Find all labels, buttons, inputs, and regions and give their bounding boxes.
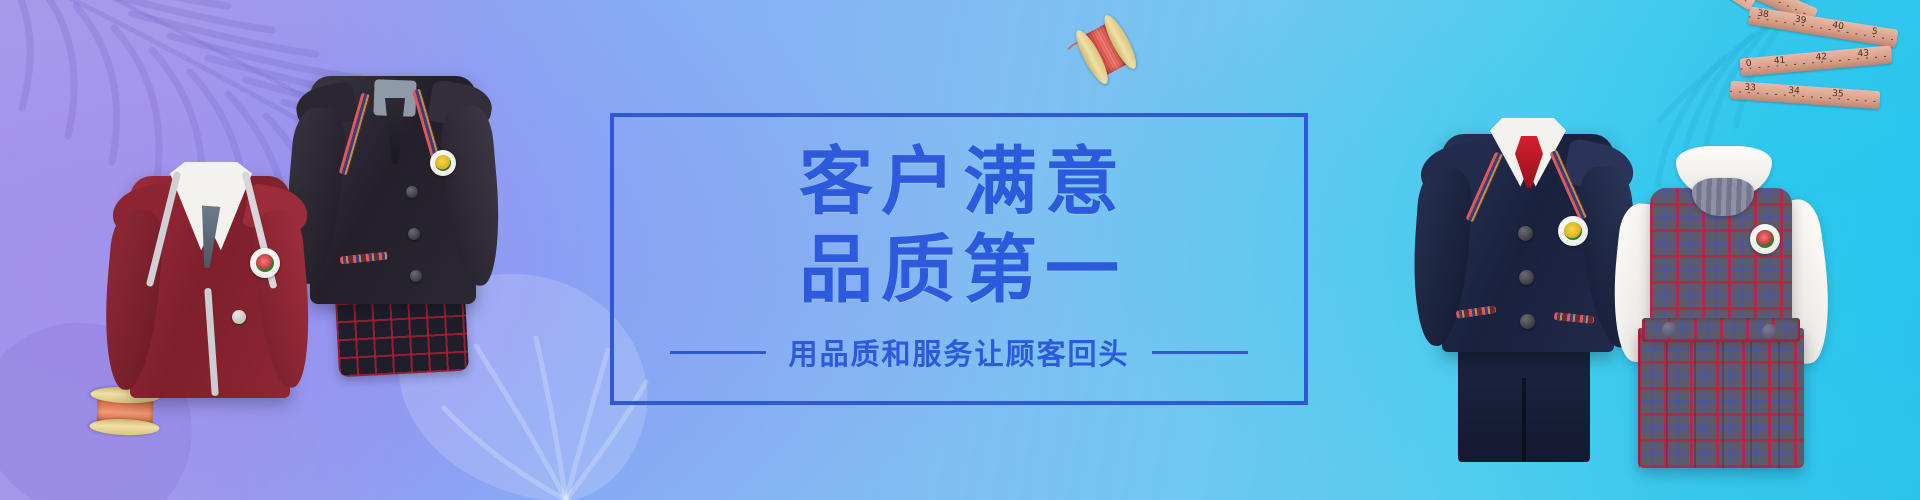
waist-button-left <box>1662 322 1677 337</box>
emblem-inner <box>1756 230 1775 249</box>
subtitle-rule-right <box>1152 351 1248 354</box>
school-emblem-badge <box>1558 216 1588 246</box>
emblem-inner <box>435 155 451 171</box>
school-emblem-badge <box>1750 224 1780 254</box>
navy-button <box>1518 226 1533 241</box>
waist-button-right <box>1762 324 1777 339</box>
blazer-button <box>410 270 422 282</box>
product-maroon-blazer <box>108 148 308 398</box>
headline-line-1: 客户满意 <box>791 145 1127 219</box>
subtitle-rule-left <box>670 351 766 354</box>
skirt-pleats <box>1638 328 1804 468</box>
product-navy-suit <box>1412 100 1642 430</box>
product-dark-blazer <box>288 58 498 358</box>
promo-banner: 38 39 40 5 0 41 42 43 33 34 35 <box>0 0 1920 500</box>
subtitle-text: 用品质和服务让顾客回头 <box>788 331 1129 373</box>
blazer-button <box>406 186 418 198</box>
headline-box: 客户满意 品质第一 用品质和服务让顾客回头 <box>610 113 1308 405</box>
headline-line-2: 品质第一 <box>791 233 1127 307</box>
trouser-split <box>1522 378 1526 462</box>
school-emblem-badge <box>250 248 280 278</box>
navy-button <box>1519 270 1534 285</box>
product-plaid-pinafore <box>1612 128 1842 428</box>
emblem-inner <box>256 254 275 273</box>
maroon-button <box>232 310 246 324</box>
blazer-button <box>408 228 420 240</box>
emblem-inner <box>1564 222 1583 241</box>
subtitle-row: 用品质和服务让顾客回头 <box>670 331 1247 373</box>
school-emblem-badge <box>430 150 456 176</box>
navy-button <box>1520 314 1535 329</box>
